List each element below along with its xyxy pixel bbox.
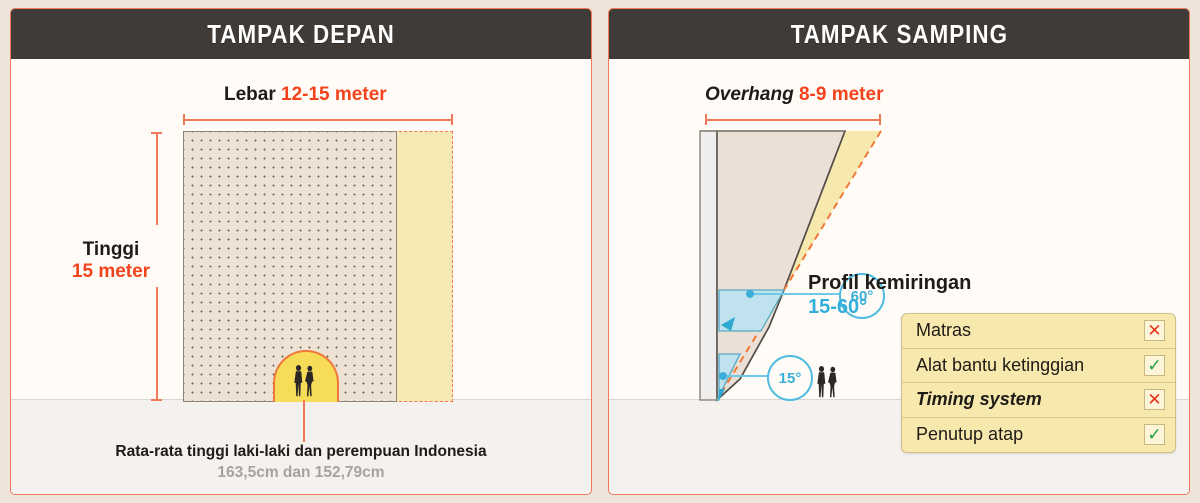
width-dimension-line [183, 114, 453, 125]
checklist-row[interactable]: Alat bantu ketinggian ✓ [902, 349, 1175, 384]
angle-15-anchor-dot [719, 372, 727, 380]
feature-checklist: Matras ✕ Alat bantu ketinggian ✓ Timing … [901, 313, 1176, 453]
caption-line-1: Rata-rata tinggi laki-laki dan perempuan… [11, 443, 591, 461]
panel-side-view-title: TAMPAK SAMPING [790, 19, 1007, 50]
panel-front-view-title: TAMPAK DEPAN [207, 19, 395, 50]
caption-leader-line [303, 400, 305, 442]
angle-15-badge[interactable]: 15° [767, 355, 813, 401]
support-column [700, 131, 717, 400]
slope-profile-title: Profil kemiringan [808, 272, 971, 295]
caption-line-2: 163,5cm dan 152,79cm [11, 464, 591, 482]
panel-front-view: TAMPAK DEPAN Lebar 12-15 meter Tinggi 15… [10, 8, 592, 495]
checklist-row[interactable]: Timing system ✕ [902, 383, 1175, 418]
checklist-label: Matras [916, 320, 971, 341]
slope-profile-label: Profil kemiringan 15-60° [808, 272, 971, 319]
height-dimension-line-upper [151, 132, 162, 225]
checklist-label: Alat bantu ketinggian [916, 355, 1084, 376]
panel-side-view: TAMPAK SAMPING Overhang 8-9 meter [608, 8, 1190, 495]
check-icon: ✓ [1144, 355, 1165, 376]
front-view-stage: Lebar 12-15 meter Tinggi 15 meter [11, 59, 591, 494]
infographic-board: TAMPAK DEPAN Lebar 12-15 meter Tinggi 15… [0, 0, 1200, 503]
checklist-label: Timing system [916, 389, 1042, 410]
width-dimension-label: Lebar 12-15 meter [224, 84, 387, 106]
panel-side-view-header: TAMPAK SAMPING [609, 9, 1189, 59]
checklist-row[interactable]: Penutup atap ✓ [902, 418, 1175, 453]
angle-60-anchor-dot [746, 290, 754, 298]
people-silhouette-front [292, 364, 318, 400]
angle-15-leader [723, 375, 771, 377]
check-icon: ✓ [1144, 424, 1165, 445]
cross-icon: ✕ [1144, 389, 1165, 410]
checklist-row[interactable]: Matras ✕ [902, 314, 1175, 349]
height-dimension-label: Tinggi 15 meter [66, 239, 156, 283]
people-silhouette-side [815, 365, 841, 401]
height-dimension-line-lower [151, 287, 162, 401]
panel-front-view-header: TAMPAK DEPAN [11, 9, 591, 59]
checklist-label: Penutup atap [916, 424, 1023, 445]
side-view-stage: Overhang 8-9 meter [609, 59, 1189, 494]
front-view-caption: Rata-rata tinggi laki-laki dan perempuan… [11, 443, 591, 482]
wall-extension-area [394, 131, 453, 402]
cross-icon: ✕ [1144, 320, 1165, 341]
